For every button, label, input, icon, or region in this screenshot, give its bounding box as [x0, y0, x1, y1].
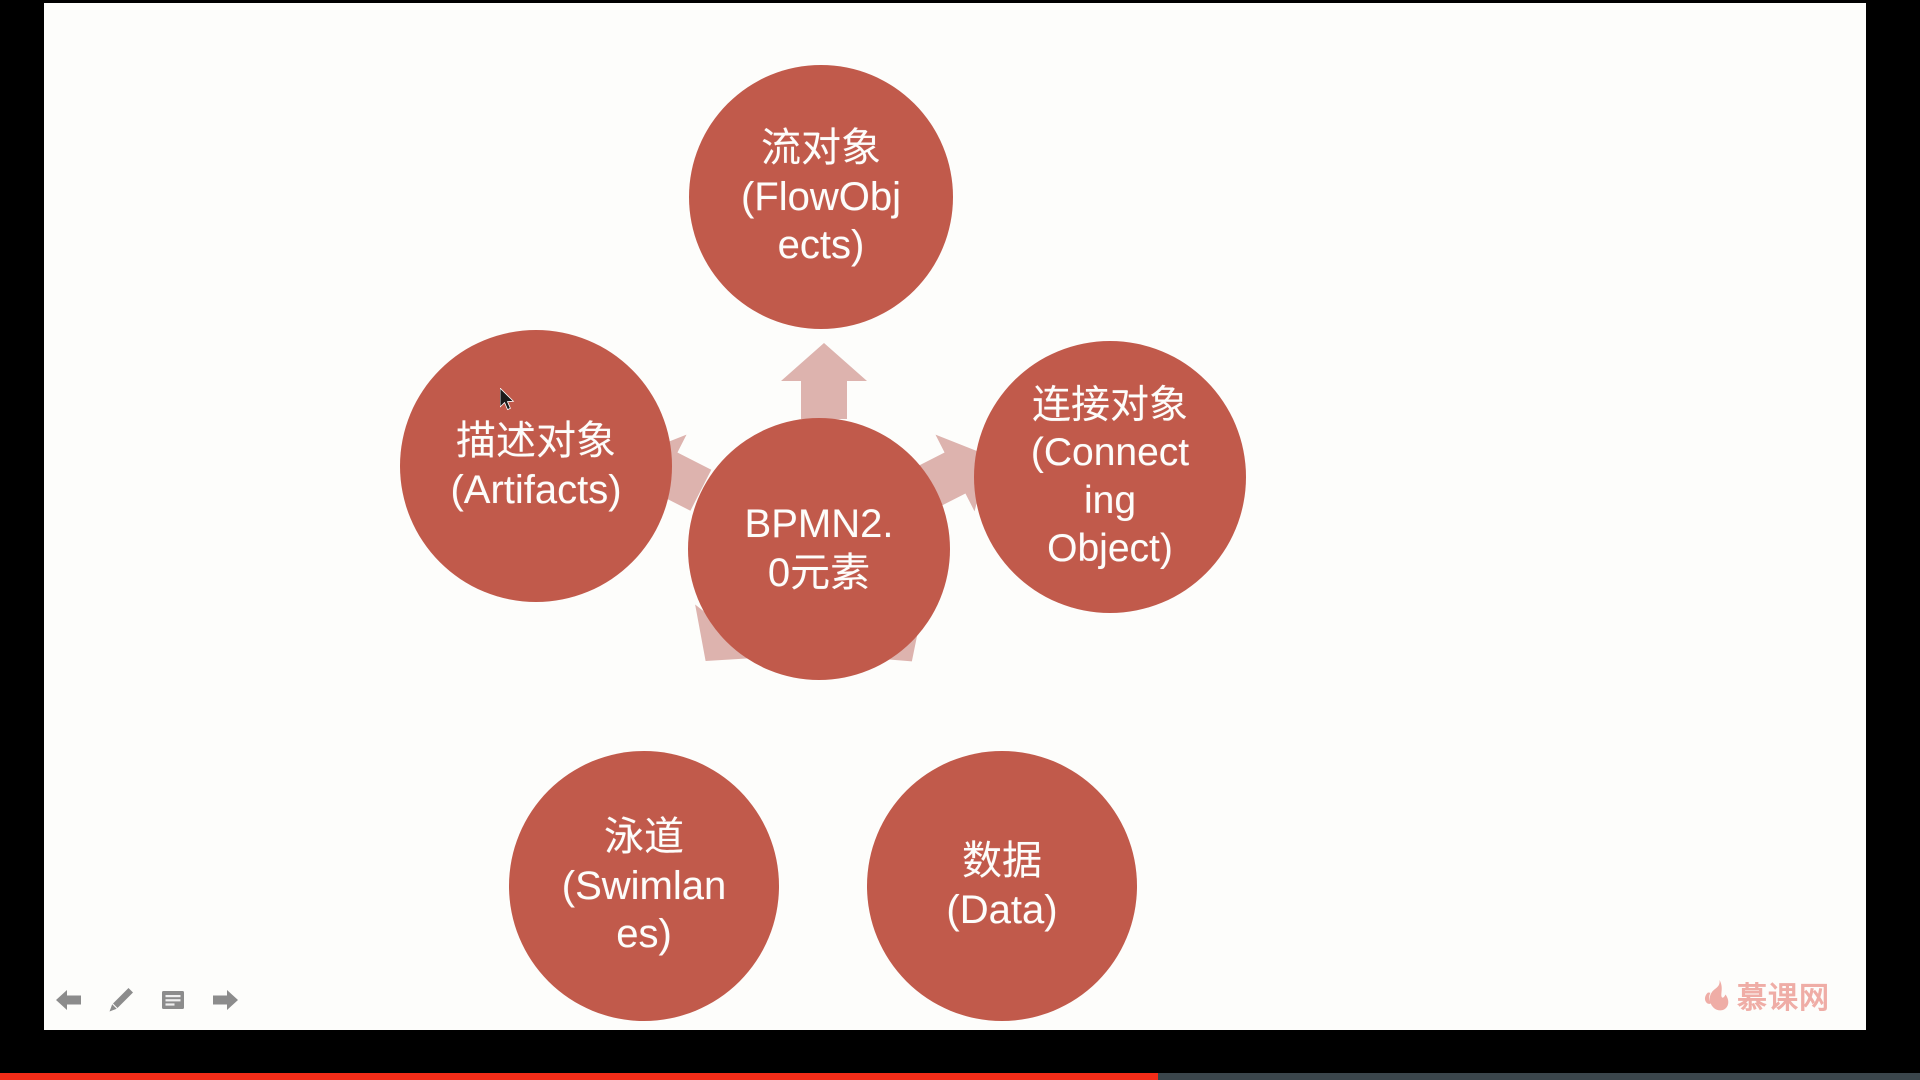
node-flow-objects: 流对象 (FlowObj ects) — [689, 65, 953, 329]
imooc-brand-text: 慕课网 — [1737, 984, 1830, 1014]
slide-canvas: 流对象 (FlowObj ects) 连接对象 (Connect ing Obj… — [44, 3, 1866, 1030]
node-connecting-object-line-1: 连接对象 — [1032, 382, 1188, 430]
node-bpmn-elements-center: BPMN2. 0元素 — [688, 418, 950, 680]
pencil-icon — [108, 987, 134, 1013]
video-player: 流对象 (FlowObj ects) 连接对象 (Connect ing Obj… — [0, 0, 1920, 1080]
node-artifacts-line-2: (Artifacts) — [450, 466, 621, 515]
left-arrow-icon — [56, 989, 82, 1011]
video-progress-bar[interactable] — [0, 1073, 1920, 1080]
right-arrow-icon — [212, 989, 238, 1011]
imooc-watermark: 慕课网 — [1703, 979, 1830, 1018]
node-connecting-object: 连接对象 (Connect ing Object) — [974, 341, 1246, 613]
pen-tool-button[interactable] — [104, 983, 138, 1017]
node-connecting-object-line-3: ing — [1084, 477, 1136, 525]
flame-icon — [1703, 979, 1731, 1018]
node-connecting-object-line-2: (Connect — [1031, 429, 1189, 477]
node-data-line-2: (Data) — [946, 886, 1057, 935]
notes-panel-button[interactable] — [156, 983, 190, 1017]
player-toolbar — [44, 978, 242, 1022]
bpmn-radial-diagram: 流对象 (FlowObj ects) 连接对象 (Connect ing Obj… — [44, 3, 1866, 1030]
node-swimlanes-line-1: 泳道 — [604, 813, 684, 862]
node-artifacts-line-1: 描述对象 — [456, 417, 616, 466]
node-swimlanes-line-2: (Swimlan — [562, 862, 726, 911]
node-center-line-2: 0元素 — [768, 549, 870, 598]
node-artifacts: 描述对象 (Artifacts) — [400, 330, 672, 602]
node-flow-objects-line-1: 流对象 — [761, 124, 881, 173]
next-slide-button[interactable] — [208, 983, 242, 1017]
node-connecting-object-line-4: Object) — [1047, 525, 1173, 573]
node-data-line-1: 数据 — [962, 837, 1042, 886]
node-swimlanes-line-3: es) — [616, 910, 672, 959]
node-data: 数据 (Data) — [867, 751, 1137, 1021]
node-swimlanes: 泳道 (Swimlan es) — [509, 751, 779, 1021]
previous-slide-button[interactable] — [52, 983, 86, 1017]
node-flow-objects-line-2: (FlowObj — [741, 173, 901, 222]
arrow-to-flow-objects-icon — [779, 341, 869, 421]
node-center-line-1: BPMN2. — [745, 500, 894, 549]
notes-icon — [160, 989, 186, 1011]
node-flow-objects-line-3: ects) — [778, 221, 865, 270]
video-progress-fill — [0, 1073, 1158, 1080]
